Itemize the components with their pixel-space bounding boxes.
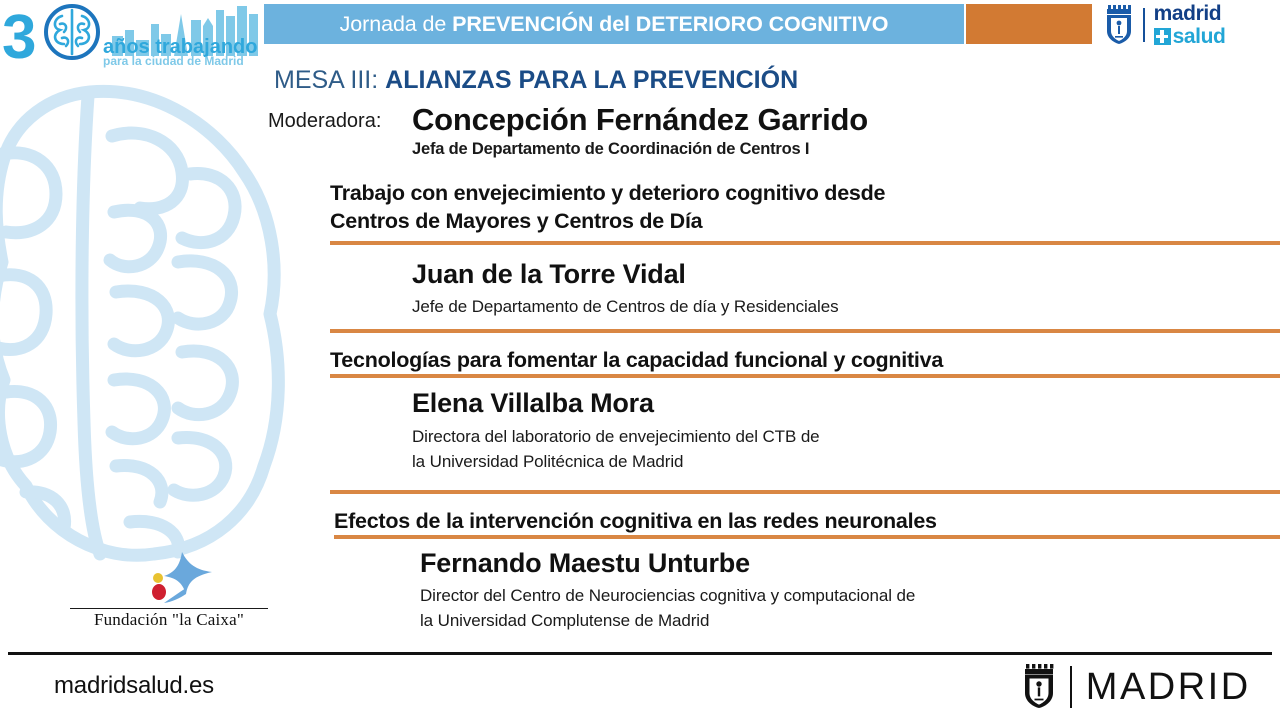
footer-website-url[interactable]: madridsalud.es: [54, 672, 214, 700]
footer-madrid-wordmark: MADRID: [1086, 666, 1251, 709]
speaker-role-3: Director del Centro de Neurociencias cog…: [420, 583, 915, 633]
anniversary-30-logo: 3 años trabajando para la ciudad de Madr…: [0, 0, 262, 68]
session-title-1: Trabajo con envejecimiento y deterioro c…: [330, 179, 1030, 235]
session-title-3: Efectos de la intervención cognitiva en …: [334, 507, 1114, 535]
madrid-salud-wordmark: madrid salud: [1154, 3, 1226, 47]
mesa-name: ALIANZAS PARA LA PREVENCIÓN: [385, 66, 798, 94]
speaker-name-3: Fernando Maestu Unturbe: [420, 548, 750, 579]
madrid-city-logo: MADRID: [1022, 663, 1251, 711]
caixa-wordmark: Fundación "la Caixa": [70, 610, 268, 630]
moderator-name: Concepción Fernández Garrido: [412, 102, 868, 138]
event-title: Jornada de PREVENCIÓN del DETERIORO COGN…: [340, 12, 889, 37]
session-rule-1: [330, 241, 1280, 245]
svg-text:para la ciudad de Madrid: para la ciudad de Madrid: [103, 54, 244, 68]
brand-madrid-text: madrid: [1154, 3, 1226, 24]
header: 3 años trabajando para la ciudad de Madr…: [0, 0, 1280, 52]
session-rule-2-bottom: [330, 490, 1280, 494]
brand-salud-text: salud: [1173, 26, 1226, 47]
session-rule-1-bottom: [330, 329, 1280, 333]
footer-divider: [8, 652, 1272, 655]
event-title-band: Jornada de PREVENCIÓN del DETERIORO COGN…: [264, 4, 964, 44]
health-cross-icon: [1154, 28, 1171, 45]
speaker-name-2: Elena Villalba Mora: [412, 388, 654, 419]
svg-text:3: 3: [2, 3, 36, 68]
event-title-bold: PREVENCIÓN del DETERIORO COGNITIVO: [452, 12, 888, 36]
fundacion-la-caixa-logo: Fundación "la Caixa": [62, 548, 278, 626]
slide-root: 3 años trabajando para la ciudad de Madr…: [0, 0, 1280, 720]
mesa-prefix: MESA III:: [274, 66, 385, 94]
madrid-coat-of-arms-icon: [1104, 5, 1134, 45]
speaker-role-1: Jefe de Departamento de Centros de día y…: [412, 294, 838, 319]
moderator-role: Jefa de Departamento de Coordinación de …: [412, 140, 809, 159]
event-title-normal: Jornada de: [340, 12, 452, 36]
session-rule-3: [334, 535, 1280, 539]
brain-watermark-icon: [0, 62, 302, 582]
mesa-heading: MESA III: ALIANZAS PARA LA PREVENCIÓN: [274, 66, 798, 95]
speaker-name-1: Juan de la Torre Vidal: [412, 259, 686, 290]
speaker-role-2: Directora del laboratorio de envejecimie…: [412, 424, 820, 474]
moderator-label: Moderadora:: [268, 110, 381, 133]
madrid-coat-of-arms-icon: [1022, 664, 1056, 710]
logo-divider: [1143, 8, 1145, 42]
orange-accent-block: [966, 4, 1092, 44]
caixa-star-icon: [146, 550, 216, 604]
madrid-salud-logo: madrid salud: [1104, 2, 1280, 48]
session-rule-2: [330, 374, 1280, 378]
session-title-2: Tecnologías para fomentar la capacidad f…: [330, 346, 1110, 374]
footer-logo-divider: [1070, 666, 1072, 708]
